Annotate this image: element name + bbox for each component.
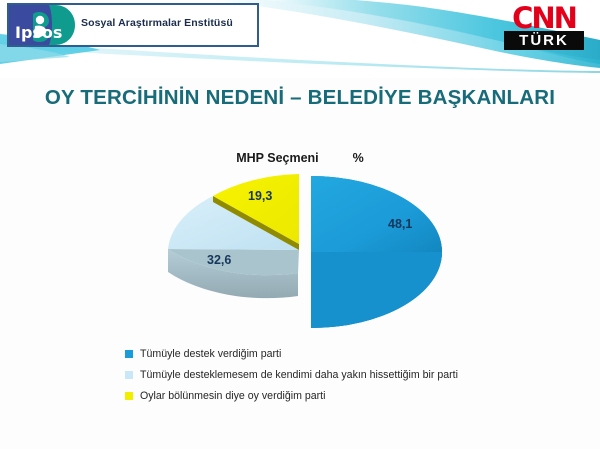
svg-text:Ipsos: Ipsos xyxy=(15,23,62,42)
pie-chart: 48,1 32,6 19,3 xyxy=(150,165,470,340)
legend-swatch-icon-1 xyxy=(125,371,133,379)
legend-label-0: Tümüyle destek verdiğim parti xyxy=(140,348,281,360)
legend-swatch-icon-0 xyxy=(125,350,133,358)
cnn-turk-logo: CNN TÜRK xyxy=(498,3,590,51)
ipsos-logo-icon: Ipsos xyxy=(9,5,75,45)
pie-chart-graphic xyxy=(150,165,470,340)
legend-label-1: Tümüyle desteklemesem de kendimi daha ya… xyxy=(140,369,458,381)
pie-value-label-light: 32,6 xyxy=(207,253,231,267)
legend-label-2: Oylar bölünmesin diye oy verdiğim parti xyxy=(140,390,325,402)
cnn-wordmark: CNN xyxy=(498,3,590,33)
pie-slice-blue-lower xyxy=(311,252,442,328)
legend-item-0[interactable]: Tümüyle destek verdiğim parti xyxy=(125,343,545,364)
legend-swatch-icon-2 xyxy=(125,392,133,400)
legend-item-2[interactable]: Oylar bölünmesin diye oy verdiğim parti xyxy=(125,385,545,406)
chart-unit-label: % xyxy=(353,151,364,165)
slide-canvas: Ipsos Sosyal Araştırmalar Enstitüsü CNN … xyxy=(0,0,600,449)
legend-item-1[interactable]: Tümüyle desteklemesem de kendimi daha ya… xyxy=(125,364,545,385)
chart-legend: Tümüyle destek verdiğim parti Tümüyle de… xyxy=(125,343,545,406)
ipsos-logo-caption: Sosyal Araştırmalar Enstitüsü xyxy=(81,17,233,29)
turk-wordmark: TÜRK xyxy=(504,31,584,50)
chart-series-name: MHP Seçmeni xyxy=(236,151,318,165)
ipsos-logo-box: Ipsos Sosyal Araştırmalar Enstitüsü xyxy=(7,3,259,47)
page-title: OY TERCİHİNİN NEDENİ – BELEDİYE BAŞKANLA… xyxy=(0,86,600,110)
pie-slice-blue-upper xyxy=(311,176,442,252)
pie-value-label-blue: 48,1 xyxy=(388,217,412,231)
pie-value-label-yellow: 19,3 xyxy=(248,189,272,203)
